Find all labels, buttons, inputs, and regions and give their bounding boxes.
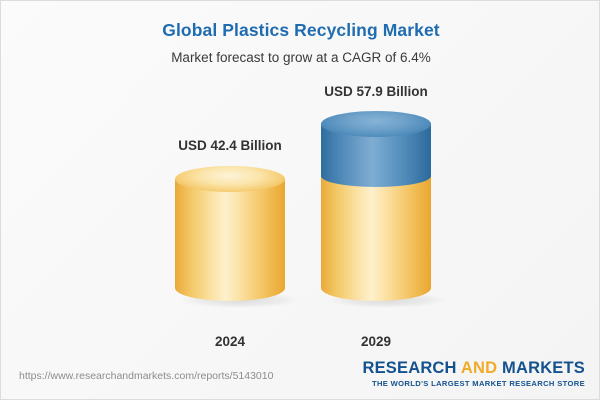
brand-logo-word-and: AND [461,359,497,377]
source-url[interactable]: https://www.researchandmarkets.com/repor… [19,370,273,382]
bar-segment-base-2029 [321,177,431,301]
bar-segment-seam-2029 [321,165,431,187]
category-label-2029: 2029 [361,334,391,349]
footer: https://www.researchandmarkets.com/repor… [1,354,600,399]
brand-logo-tagline: THE WORLD'S LARGEST MARKET RESEARCH STOR… [362,379,585,388]
bar-cylinder-2029 [321,124,431,301]
category-label-2024: 2024 [215,334,245,349]
brand-logo-wordmark: RESEARCH AND MARKETS [362,359,585,378]
chart-plot-area: USD 42.4 Billion 2024 USD 57.9 Billion 2… [1,1,600,356]
bar-segment-base-2024 [175,179,285,301]
bar-top-cap-2029 [321,111,431,137]
bar-value-label-2029: USD 57.9 Billion [324,84,428,99]
brand-logo-word-research: RESEARCH [362,359,456,377]
brand-logo[interactable]: RESEARCH AND MARKETS THE WORLD'S LARGEST… [362,359,585,388]
bar-cylinder-2024 [175,179,285,301]
infographic-card: Global Plastics Recycling Market Market … [0,0,600,400]
bar-value-label-2024: USD 42.4 Billion [178,138,282,153]
brand-logo-word-markets: MARKETS [502,359,585,377]
bar-top-cap-2024 [175,166,285,192]
